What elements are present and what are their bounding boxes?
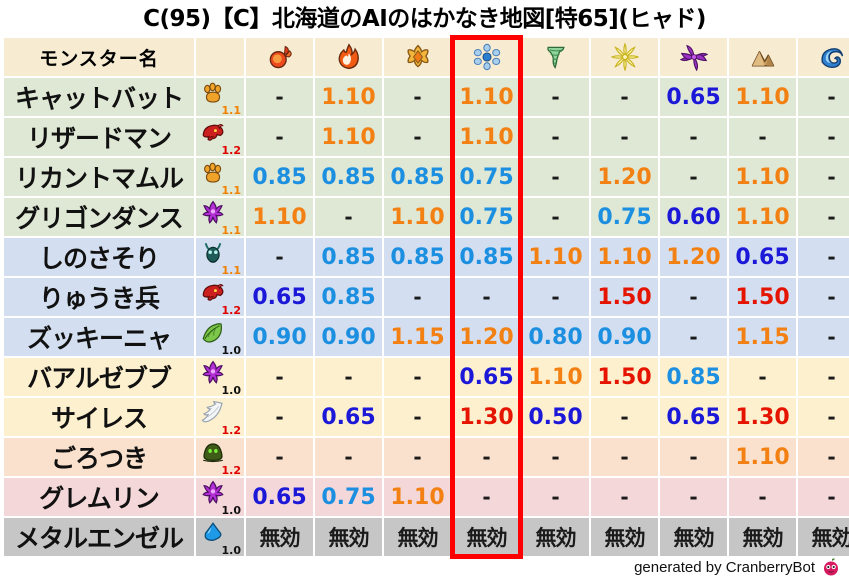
resistance-value[interactable]: - bbox=[798, 158, 849, 196]
page-title: C(95)【C】北海道のAIのはかなき地図[特65](ヒャド) bbox=[0, 0, 849, 36]
resistance-value[interactable]: - bbox=[522, 478, 589, 516]
resistance-value[interactable]: - bbox=[246, 438, 313, 476]
resistance-value[interactable]: 0.65 bbox=[660, 398, 727, 436]
resistance-value[interactable]: 1.15 bbox=[729, 318, 796, 356]
resistance-value[interactable]: 1.20 bbox=[453, 318, 520, 356]
footer-credit: generated by CranberryBot bbox=[634, 557, 841, 577]
resistance-value[interactable]: - bbox=[591, 398, 658, 436]
resistance-value[interactable]: 1.50 bbox=[729, 278, 796, 316]
resistance-value[interactable]: 無効 bbox=[798, 518, 849, 556]
family-multiplier: 1.1 bbox=[222, 185, 242, 196]
resistance-value[interactable]: - bbox=[522, 278, 589, 316]
resistance-value[interactable]: - bbox=[729, 118, 796, 156]
resistance-value[interactable]: 1.20 bbox=[660, 238, 727, 276]
monster-family-cell: 1.0 bbox=[196, 478, 244, 516]
family-multiplier: 1.1 bbox=[222, 225, 242, 236]
resistance-value[interactable]: - bbox=[798, 238, 849, 276]
header-element-4[interactable] bbox=[522, 38, 589, 76]
demon-icon bbox=[200, 480, 226, 506]
table-row: ズッキーニャ1.00.900.901.151.200.800.90-1.15- bbox=[4, 318, 849, 356]
resistance-value[interactable]: 0.90 bbox=[246, 318, 313, 356]
table-row: リカントマムル1.10.850.850.850.75-1.20-1.10- bbox=[4, 158, 849, 196]
header-element-6[interactable] bbox=[660, 38, 727, 76]
resistance-value[interactable]: 1.20 bbox=[591, 158, 658, 196]
resistance-value[interactable]: - bbox=[384, 78, 451, 116]
resistance-value[interactable]: 0.85 bbox=[384, 238, 451, 276]
resistance-value[interactable]: - bbox=[660, 318, 727, 356]
cranberry-bot-icon bbox=[821, 557, 841, 577]
table-row: しのさそり1.1-0.850.850.851.101.101.200.65- bbox=[4, 238, 849, 276]
resistance-value[interactable]: - bbox=[522, 438, 589, 476]
header-monster-name: モンスター名 bbox=[4, 38, 194, 76]
table-row: バアルゼブブ1.0---0.651.101.500.85-- bbox=[4, 358, 849, 396]
resistance-value[interactable]: 無効 bbox=[384, 518, 451, 556]
resistance-value[interactable]: 0.85 bbox=[453, 238, 520, 276]
family-multiplier: 1.0 bbox=[222, 385, 242, 396]
family-multiplier: 1.2 bbox=[222, 145, 242, 156]
paw-icon bbox=[200, 80, 226, 106]
resistance-value[interactable]: 0.50 bbox=[522, 398, 589, 436]
resistance-value[interactable]: - bbox=[660, 278, 727, 316]
resistance-value[interactable]: - bbox=[660, 158, 727, 196]
resistance-value[interactable]: - bbox=[384, 398, 451, 436]
monster-family-cell: 1.1 bbox=[196, 158, 244, 196]
resistance-value[interactable]: 1.10 bbox=[315, 118, 382, 156]
family-multiplier: 1.0 bbox=[222, 505, 242, 516]
resistance-value[interactable]: - bbox=[729, 358, 796, 396]
resistance-value[interactable]: 0.90 bbox=[315, 318, 382, 356]
family-multiplier: 1.0 bbox=[222, 545, 242, 556]
resistance-value[interactable]: 無効 bbox=[591, 518, 658, 556]
resistance-value[interactable]: - bbox=[522, 158, 589, 196]
monster-name[interactable]: グレムリン bbox=[4, 478, 194, 516]
footer-text: generated by CranberryBot bbox=[634, 559, 815, 576]
resistance-value[interactable]: - bbox=[315, 358, 382, 396]
monster-family-cell: 1.1 bbox=[196, 78, 244, 116]
resistance-value[interactable]: - bbox=[453, 438, 520, 476]
meteor-icon bbox=[246, 38, 313, 76]
monster-family-cell: 1.0 bbox=[196, 518, 244, 556]
resistance-value[interactable]: 0.65 bbox=[660, 78, 727, 116]
resistance-value[interactable]: - bbox=[384, 118, 451, 156]
light-star-icon bbox=[591, 38, 658, 76]
header-element-7[interactable] bbox=[729, 38, 796, 76]
family-multiplier: 1.1 bbox=[222, 265, 242, 276]
resistance-value[interactable]: - bbox=[798, 438, 849, 476]
resistance-value[interactable]: 1.10 bbox=[729, 438, 796, 476]
resistance-value[interactable]: - bbox=[591, 78, 658, 116]
resistance-value[interactable]: 1.10 bbox=[315, 78, 382, 116]
dragon-icon bbox=[200, 120, 226, 146]
resistance-value[interactable]: - bbox=[384, 278, 451, 316]
resistance-value[interactable]: 0.85 bbox=[246, 158, 313, 196]
resistance-value[interactable]: 0.85 bbox=[315, 278, 382, 316]
table-row: りゅうき兵1.20.650.85---1.50-1.50- bbox=[4, 278, 849, 316]
dragon-icon bbox=[200, 280, 226, 306]
header-element-0[interactable] bbox=[246, 38, 313, 76]
monster-family-cell: 1.1 bbox=[196, 198, 244, 236]
table-row: ごろつき1.2-------1.10- bbox=[4, 438, 849, 476]
resistance-value[interactable]: 0.85 bbox=[660, 358, 727, 396]
table-row: グレムリン1.00.650.751.10------ bbox=[4, 478, 849, 516]
resistance-value[interactable]: 0.65 bbox=[315, 398, 382, 436]
resistance-value[interactable]: - bbox=[453, 278, 520, 316]
monster-name[interactable]: バアルゼブブ bbox=[4, 358, 194, 396]
monster-family-cell: 1.0 bbox=[196, 358, 244, 396]
resistance-value[interactable]: 1.30 bbox=[729, 398, 796, 436]
resistance-value[interactable]: - bbox=[729, 478, 796, 516]
table-header-row: モンスター名 bbox=[4, 38, 849, 76]
header-element-1[interactable] bbox=[315, 38, 382, 76]
monster-family-cell: 1.2 bbox=[196, 438, 244, 476]
bug-icon bbox=[200, 240, 226, 266]
table-row: グリゴンダンス1.11.10-1.100.75-0.750.601.10- bbox=[4, 198, 849, 236]
monster-family-cell: 1.1 bbox=[196, 238, 244, 276]
monster-name[interactable]: リカントマムル bbox=[4, 158, 194, 196]
resistance-table: モンスター名キャットバット1.1-1.10-1.10--0.651.10-リザー… bbox=[2, 36, 849, 558]
family-multiplier: 1.0 bbox=[222, 345, 242, 356]
table-row: サイレス1.2-0.65-1.300.50-0.651.30- bbox=[4, 398, 849, 436]
resistance-value[interactable]: - bbox=[384, 358, 451, 396]
monster-name[interactable]: キャットバット bbox=[4, 78, 194, 116]
monster-family-cell: 1.0 bbox=[196, 318, 244, 356]
family-multiplier: 1.2 bbox=[222, 425, 242, 436]
paw-icon bbox=[200, 160, 226, 186]
resistance-table-container: モンスター名キャットバット1.1-1.10-1.10--0.651.10-リザー… bbox=[0, 36, 849, 558]
resistance-value[interactable]: 1.10 bbox=[729, 198, 796, 236]
resistance-value[interactable]: 1.10 bbox=[729, 158, 796, 196]
resistance-value[interactable]: 無効 bbox=[729, 518, 796, 556]
resistance-value[interactable]: - bbox=[798, 318, 849, 356]
table-row: メタルエンゼル1.0無効無効無効無効無効無効無効無効無効 bbox=[4, 518, 849, 556]
resistance-value[interactable]: 0.90 bbox=[591, 318, 658, 356]
resistance-value[interactable]: 0.85 bbox=[315, 158, 382, 196]
demon-icon bbox=[200, 360, 226, 386]
resistance-value[interactable]: 0.85 bbox=[384, 158, 451, 196]
resistance-value[interactable]: - bbox=[660, 438, 727, 476]
resistance-value[interactable]: 0.75 bbox=[453, 158, 520, 196]
mountain-icon bbox=[729, 38, 796, 76]
table-row: キャットバット1.1-1.10-1.10--0.651.10- bbox=[4, 78, 849, 116]
monster-family-cell: 1.2 bbox=[196, 398, 244, 436]
resistance-value[interactable]: 0.75 bbox=[591, 198, 658, 236]
leaf-icon bbox=[200, 320, 226, 346]
resistance-value[interactable]: 1.30 bbox=[453, 398, 520, 436]
resistance-value[interactable]: - bbox=[591, 438, 658, 476]
resistance-value[interactable]: - bbox=[660, 118, 727, 156]
resistance-value[interactable]: 0.65 bbox=[246, 478, 313, 516]
resistance-value[interactable]: - bbox=[660, 478, 727, 516]
explosion-icon bbox=[384, 38, 451, 76]
resistance-value[interactable]: 無効 bbox=[315, 518, 382, 556]
resistance-value[interactable]: - bbox=[591, 118, 658, 156]
tornado-icon bbox=[522, 38, 589, 76]
dark-swirl-icon bbox=[660, 38, 727, 76]
resistance-value[interactable]: - bbox=[591, 478, 658, 516]
resistance-value[interactable]: - bbox=[453, 478, 520, 516]
resistance-value[interactable]: 1.10 bbox=[729, 78, 796, 116]
resistance-value[interactable]: - bbox=[798, 198, 849, 236]
resistance-value[interactable]: 1.10 bbox=[246, 198, 313, 236]
resistance-value[interactable]: 1.10 bbox=[522, 358, 589, 396]
resistance-value[interactable]: 0.65 bbox=[246, 278, 313, 316]
monster-name[interactable]: りゅうき兵 bbox=[4, 278, 194, 316]
resistance-value[interactable]: - bbox=[246, 358, 313, 396]
family-multiplier: 1.2 bbox=[222, 305, 242, 316]
header-element-5[interactable] bbox=[591, 38, 658, 76]
resistance-value[interactable]: - bbox=[798, 358, 849, 396]
monster-family-cell: 1.2 bbox=[196, 118, 244, 156]
resistance-value[interactable]: - bbox=[798, 398, 849, 436]
wave-icon bbox=[798, 38, 849, 76]
resistance-value[interactable]: 0.65 bbox=[729, 238, 796, 276]
table-row: リザードマン1.2-1.10-1.10----- bbox=[4, 118, 849, 156]
slime-dark-icon bbox=[200, 440, 226, 466]
family-multiplier: 1.1 bbox=[222, 105, 242, 116]
header-element-2[interactable] bbox=[384, 38, 451, 76]
resistance-value[interactable]: - bbox=[246, 238, 313, 276]
resistance-value[interactable]: 0.85 bbox=[315, 238, 382, 276]
monster-name[interactable]: しのさそり bbox=[4, 238, 194, 276]
resistance-value[interactable]: - bbox=[522, 118, 589, 156]
resistance-value[interactable]: 1.50 bbox=[591, 278, 658, 316]
resistance-value[interactable]: - bbox=[522, 78, 589, 116]
resistance-value[interactable]: - bbox=[246, 398, 313, 436]
resistance-value[interactable]: - bbox=[246, 78, 313, 116]
resistance-value[interactable]: 1.10 bbox=[522, 238, 589, 276]
monster-name[interactable]: リザードマン bbox=[4, 118, 194, 156]
flame-icon bbox=[315, 38, 382, 76]
resistance-value[interactable]: 0.75 bbox=[315, 478, 382, 516]
header-element-3[interactable] bbox=[453, 38, 520, 76]
resistance-value[interactable]: 1.15 bbox=[384, 318, 451, 356]
family-multiplier: 1.2 bbox=[222, 465, 242, 476]
resistance-value[interactable]: - bbox=[384, 438, 451, 476]
resistance-value[interactable]: 1.10 bbox=[453, 118, 520, 156]
resistance-value[interactable]: 1.50 bbox=[591, 358, 658, 396]
resistance-value[interactable]: 1.10 bbox=[384, 198, 451, 236]
monster-name[interactable]: ごろつき bbox=[4, 438, 194, 476]
resistance-value[interactable]: 1.10 bbox=[384, 478, 451, 516]
resistance-value[interactable]: - bbox=[798, 278, 849, 316]
resistance-value[interactable]: 0.65 bbox=[453, 358, 520, 396]
demon-icon bbox=[200, 200, 226, 226]
monster-name[interactable]: グリゴンダンス bbox=[4, 198, 194, 236]
resistance-value[interactable]: 無効 bbox=[660, 518, 727, 556]
monster-family-cell: 1.2 bbox=[196, 278, 244, 316]
resistance-value[interactable]: 無効 bbox=[246, 518, 313, 556]
resistance-value[interactable]: 0.60 bbox=[660, 198, 727, 236]
resistance-value[interactable]: 0.80 bbox=[522, 318, 589, 356]
slime-blue-icon bbox=[200, 520, 226, 546]
resistance-value[interactable]: - bbox=[315, 438, 382, 476]
monster-name[interactable]: メタルエンゼル bbox=[4, 518, 194, 556]
resistance-value[interactable]: - bbox=[246, 118, 313, 156]
resistance-value[interactable]: 1.10 bbox=[453, 78, 520, 116]
resistance-value[interactable]: - bbox=[798, 78, 849, 116]
monster-name[interactable]: サイレス bbox=[4, 398, 194, 436]
resistance-table-page: C(95)【C】北海道のAIのはかなき地図[特65](ヒャド) モンスター名キャ… bbox=[0, 0, 849, 583]
resistance-value[interactable]: - bbox=[522, 198, 589, 236]
resistance-value[interactable]: 1.10 bbox=[591, 238, 658, 276]
monster-name[interactable]: ズッキーニャ bbox=[4, 318, 194, 356]
header-element-8[interactable] bbox=[798, 38, 849, 76]
resistance-value[interactable]: - bbox=[798, 478, 849, 516]
resistance-value[interactable]: - bbox=[315, 198, 382, 236]
wing-icon bbox=[200, 400, 226, 426]
resistance-value[interactable]: 無効 bbox=[453, 518, 520, 556]
header-family bbox=[196, 38, 244, 76]
snowflake-icon bbox=[453, 38, 520, 76]
resistance-value[interactable]: 無効 bbox=[522, 518, 589, 556]
resistance-value[interactable]: 0.75 bbox=[453, 198, 520, 236]
resistance-value[interactable]: - bbox=[798, 118, 849, 156]
